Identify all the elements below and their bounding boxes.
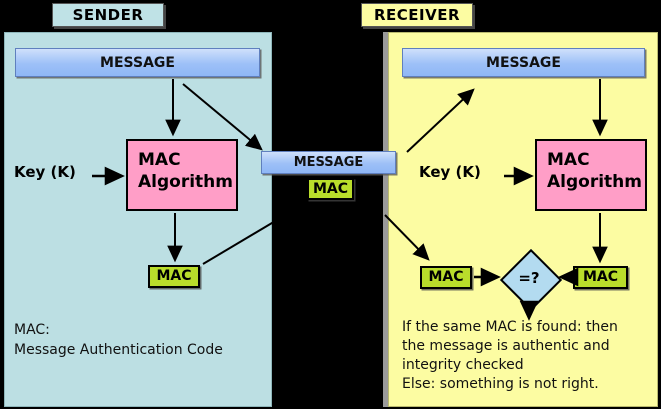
receiver-received-mac-tag: MAC (420, 266, 472, 289)
receiver-message-box: MESSAGE (402, 48, 645, 77)
compare-diamond-label: =? (501, 250, 557, 306)
diagram-canvas: SENDER MESSAGE MAC Algorithm Key (K) MAC… (0, 0, 661, 409)
compare-diamond: =? (501, 250, 557, 306)
channel-mac-tag: MAC (307, 178, 354, 200)
sender-message-box: MESSAGE (15, 48, 260, 77)
sender-key-label: Key (K) (14, 163, 76, 181)
channel-message-box: MESSAGE (261, 151, 396, 174)
receiver-mac-algorithm-box: MAC Algorithm (535, 139, 647, 211)
receiver-title-tab: RECEIVER (361, 3, 473, 27)
sender-mac-tag: MAC (148, 265, 200, 288)
receiver-result-text: If the same MAC is found: then the messa… (402, 318, 652, 394)
sender-mac-algorithm-box: MAC Algorithm (126, 139, 238, 211)
sender-caption-text: MAC: Message Authentication Code (14, 320, 264, 360)
receiver-key-label: Key (K) (419, 163, 481, 181)
receiver-computed-mac-tag: MAC (573, 266, 628, 289)
sender-title-tab: SENDER (52, 3, 164, 27)
